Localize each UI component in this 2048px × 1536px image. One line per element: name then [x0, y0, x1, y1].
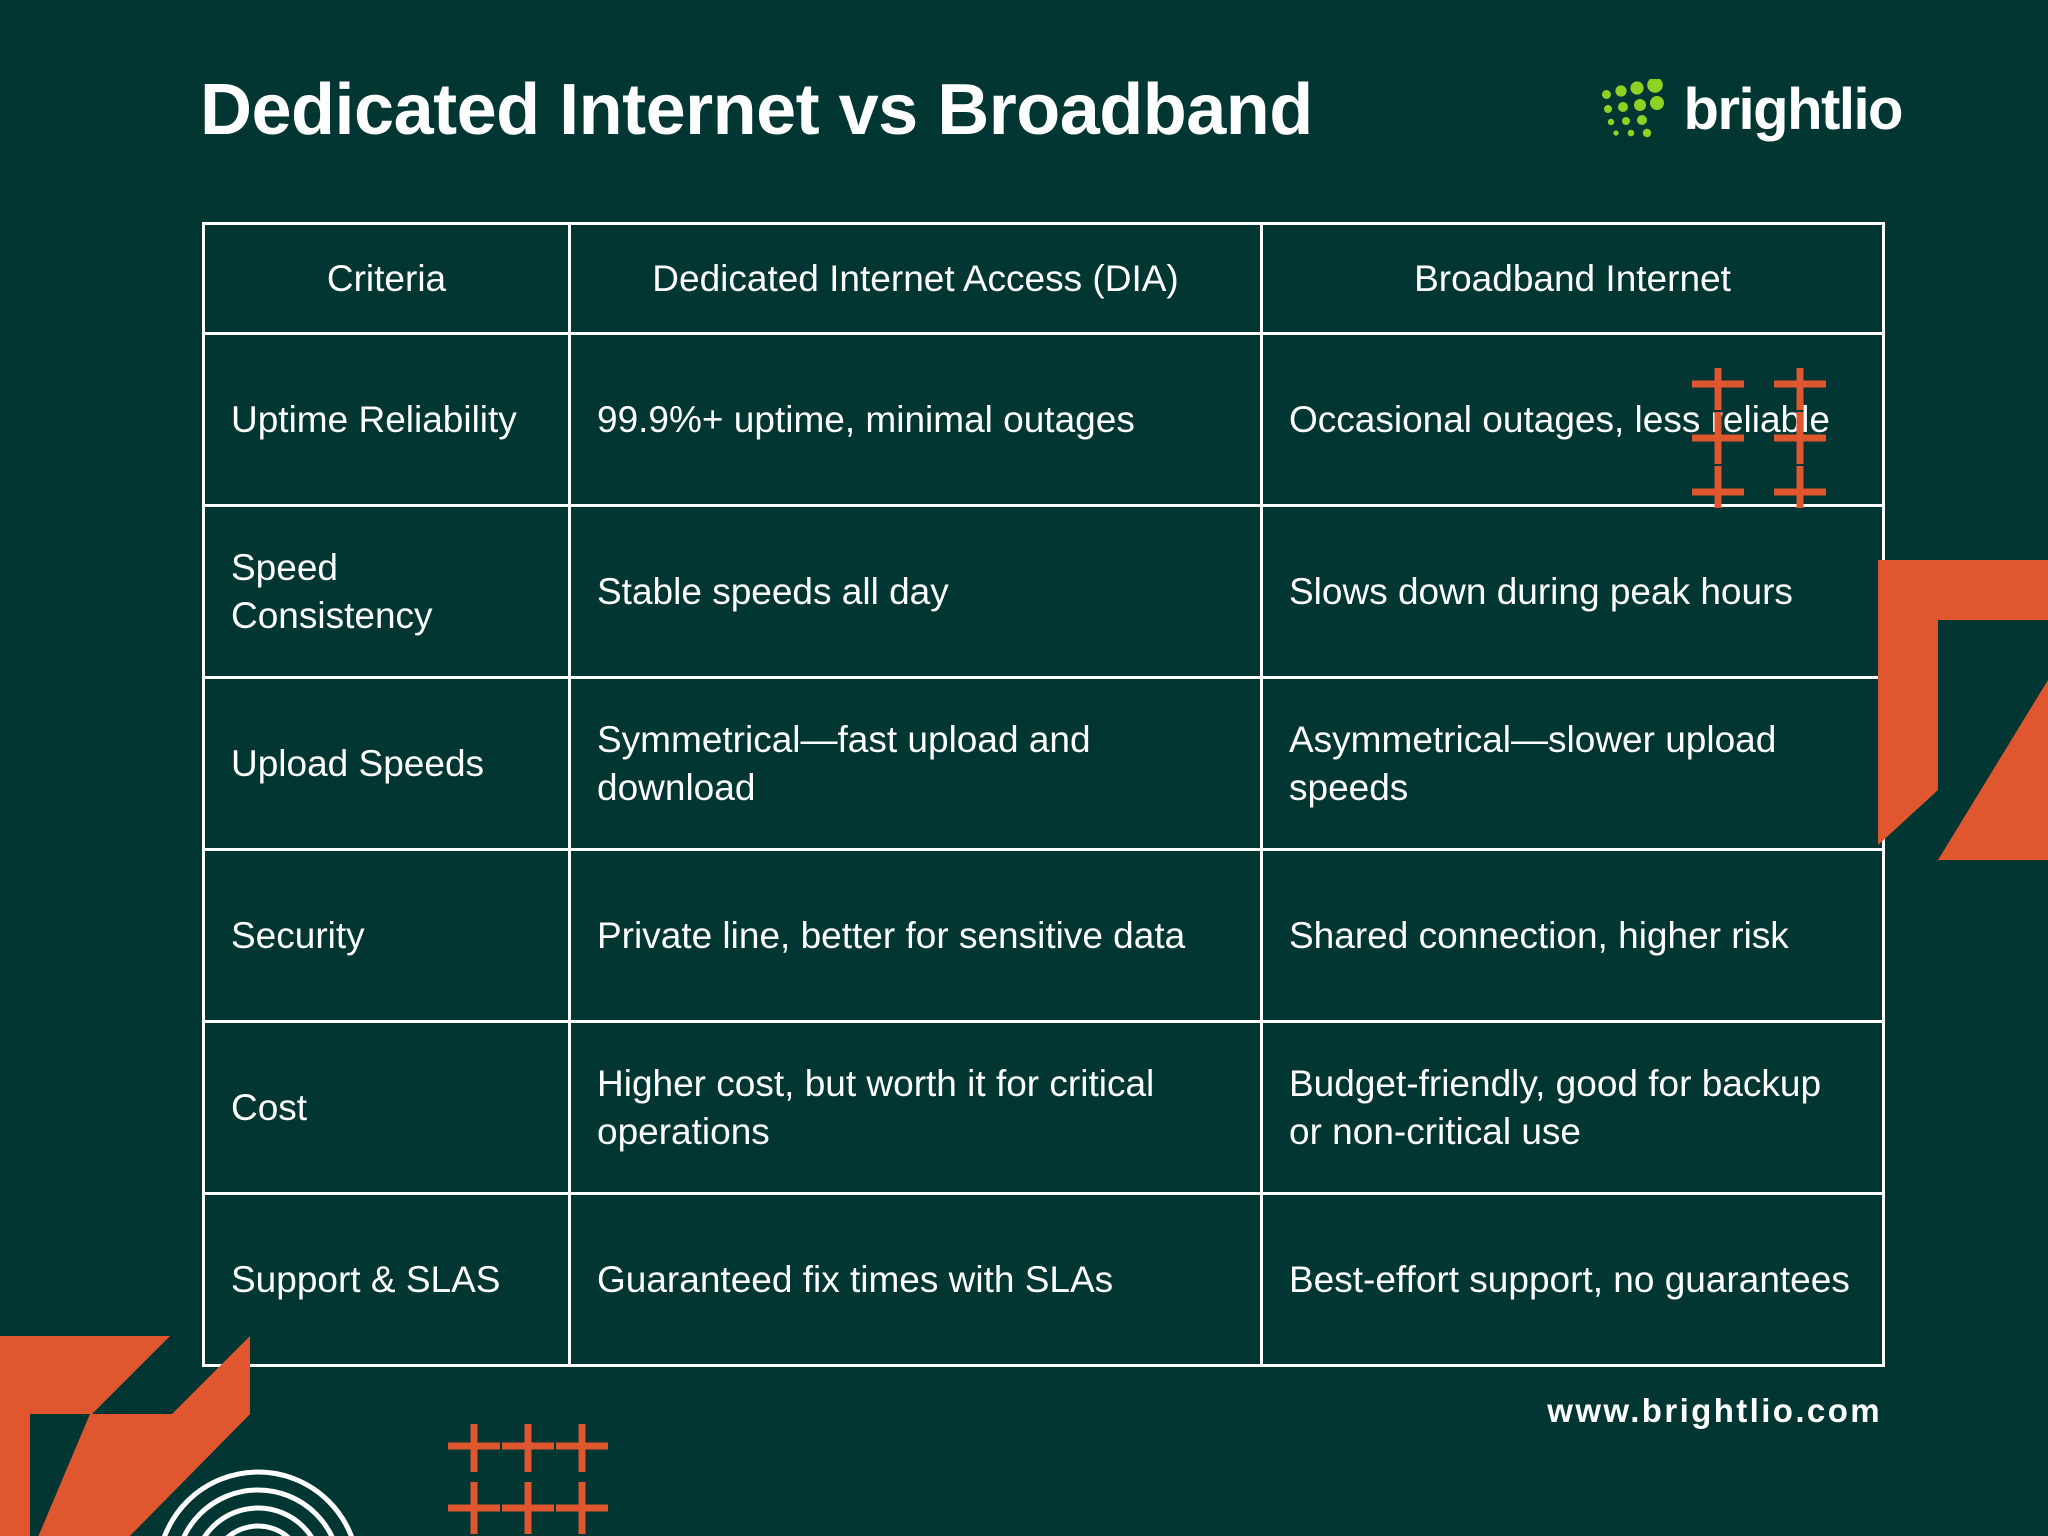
footer-website-url: www.brightlio.com: [1547, 1392, 1882, 1430]
cell-criteria: Cost: [204, 1022, 570, 1194]
cell-criteria: Support & SLAS: [204, 1194, 570, 1366]
cell-broadband: Slows down during peak hours: [1262, 506, 1884, 678]
cell-dia: Symmetrical—fast upload and download: [570, 678, 1262, 850]
cell-broadband: Occasional outages, less reliable: [1262, 334, 1884, 506]
slide-header: Dedicated Internet vs Broadband: [200, 55, 1920, 165]
slide-canvas: Dedicated Internet vs Broadband: [0, 0, 2048, 1536]
cell-broadband: Shared connection, higher risk: [1262, 850, 1884, 1022]
cell-dia: 99.9%+ uptime, minimal outages: [570, 334, 1262, 506]
column-header-broadband: Broadband Internet: [1262, 224, 1884, 334]
brightlio-dots-logo-icon: [1602, 79, 1668, 141]
cell-dia: Higher cost, but worth it for critical o…: [570, 1022, 1262, 1194]
table-row: Security Private line, better for sensit…: [204, 850, 1884, 1022]
column-header-dia: Dedicated Internet Access (DIA): [570, 224, 1262, 334]
cell-criteria: Uptime Reliability: [204, 334, 570, 506]
cell-dia: Stable speeds all day: [570, 506, 1262, 678]
cell-broadband: Best-effort support, no guarantees: [1262, 1194, 1884, 1366]
column-header-criteria: Criteria: [204, 224, 570, 334]
table-row: Support & SLAS Guaranteed fix times with…: [204, 1194, 1884, 1366]
table-row: Upload Speeds Symmetrical—fast upload an…: [204, 678, 1884, 850]
comparison-table: Criteria Dedicated Internet Access (DIA)…: [202, 222, 1885, 1367]
concentric-arcs-icon: [148, 1452, 368, 1536]
brightlio-logo: brightlio: [1602, 79, 1902, 141]
cell-broadband: Asymmetrical—slower upload speeds: [1262, 678, 1884, 850]
cell-criteria: Upload Speeds: [204, 678, 570, 850]
table-row: Cost Higher cost, but worth it for criti…: [204, 1022, 1884, 1194]
plus-grid-bottom-icon: [446, 1424, 656, 1536]
cell-dia: Private line, better for sensitive data: [570, 850, 1262, 1022]
page-title: Dedicated Internet vs Broadband: [200, 74, 1313, 146]
table-row: Uptime Reliability 99.9%+ uptime, minima…: [204, 334, 1884, 506]
table-header-row: Criteria Dedicated Internet Access (DIA)…: [204, 224, 1884, 334]
brightlio-logo-text: brightlio: [1684, 81, 1902, 139]
cell-broadband: Budget-friendly, good for backup or non-…: [1262, 1022, 1884, 1194]
cell-dia: Guaranteed fix times with SLAs: [570, 1194, 1262, 1366]
table-row: Speed Consistency Stable speeds all day …: [204, 506, 1884, 678]
cell-criteria: Security: [204, 850, 570, 1022]
cell-criteria: Speed Consistency: [204, 506, 570, 678]
